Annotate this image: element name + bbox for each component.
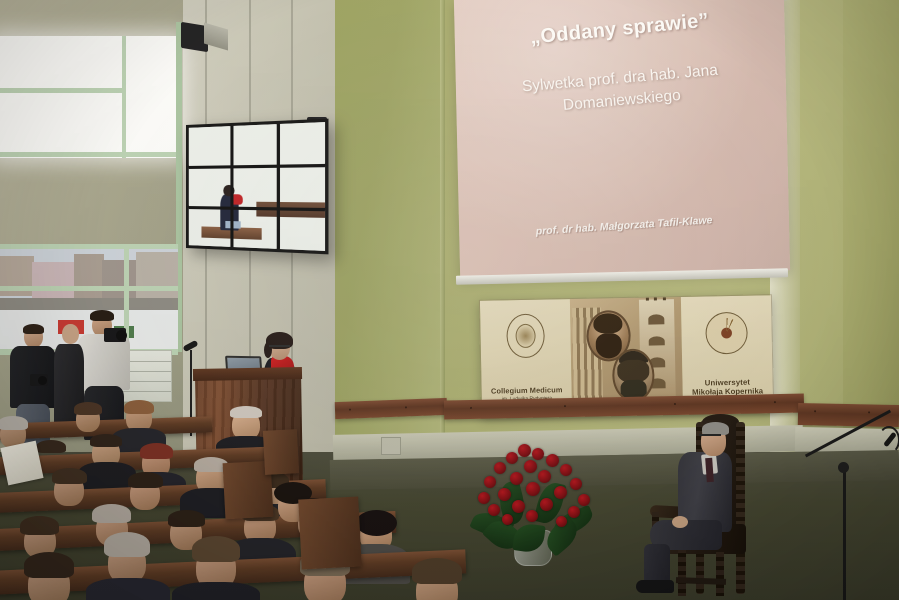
seated-guest-in-throne-chair [640, 420, 752, 595]
pew-end-panel [263, 429, 299, 475]
wall-far-right [843, 0, 899, 470]
photograph-lecture-hall: „Oddany sprawie” Sylwetka prof. dra hab.… [0, 0, 899, 600]
audience-hair [74, 402, 102, 415]
audience-hair [90, 434, 122, 447]
video-wall-tile [189, 208, 230, 247]
collegium-medicum-seal-icon [506, 314, 545, 359]
boom-joint [838, 462, 849, 473]
red-rose-bouquet [470, 438, 598, 568]
audience-hair [140, 443, 173, 459]
video-wall-3x3[interactable] [186, 119, 328, 255]
video-wall-tile [232, 124, 275, 164]
video-wall-tile [189, 126, 230, 165]
floor-vent-grille [381, 437, 401, 455]
audience-hair [20, 516, 59, 535]
umk-seal-icon [705, 312, 748, 355]
window-trim [0, 244, 178, 249]
audience-hair [52, 468, 87, 484]
audience-hair [92, 504, 131, 523]
audience-hair [168, 510, 205, 527]
video-wall-tile [232, 167, 275, 206]
audience-hair [230, 406, 262, 418]
video-wall-tile [279, 122, 325, 163]
audience-shoulders [86, 578, 170, 600]
video-wall-tile [189, 167, 230, 205]
audience-hair [104, 532, 150, 557]
video-wall-tile [279, 209, 325, 250]
window-trim [122, 36, 126, 158]
pew-end-panel [298, 496, 362, 569]
audience-hair [124, 400, 154, 414]
window-trim [0, 152, 180, 157]
audience-hair [192, 536, 240, 562]
window-upper-left [0, 36, 180, 158]
audience-hair [412, 558, 462, 584]
window-trim [0, 88, 126, 93]
audience-hair [36, 440, 66, 453]
video-wall-tile [279, 166, 325, 207]
video-wall-tile [232, 209, 275, 249]
audience-shoulders [172, 582, 260, 600]
eyeglasses-icon [269, 345, 290, 350]
eyeglasses-icon [699, 434, 721, 439]
programme-leaflet [0, 441, 43, 486]
window-mullion-horizontal [0, 286, 178, 291]
projection-screen: „Oddany sprawie” Sylwetka prof. dra hab.… [454, 0, 790, 278]
audience-hair [128, 472, 163, 488]
audience-hair [24, 552, 74, 578]
audience-hair [0, 416, 28, 430]
audience-hair [356, 510, 397, 536]
boom-microphone-stand-right [843, 468, 846, 600]
